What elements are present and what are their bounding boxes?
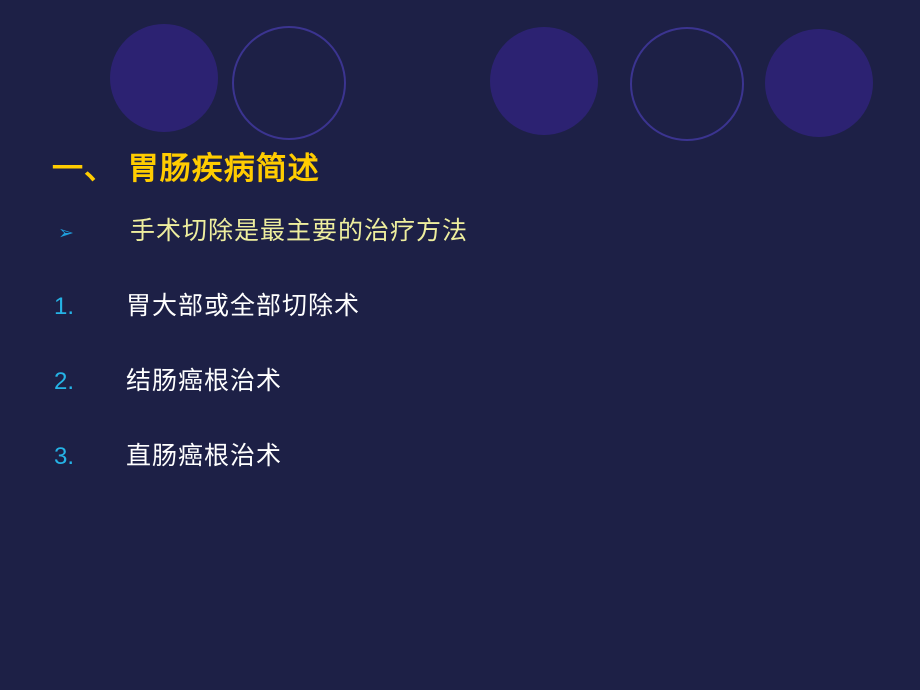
list-item: 3.直肠癌根治术 — [52, 441, 872, 516]
list-item-label: 直肠癌根治术 — [126, 441, 282, 471]
slide-body-list: ➢手术切除是最主要的治疗方法1.胃大部或全部切除术2.结肠癌根治术3.直肠癌根治… — [52, 216, 872, 516]
list-item-number: 2. — [52, 367, 126, 397]
list-item: 2.结肠癌根治术 — [52, 366, 872, 441]
list-item: ➢手术切除是最主要的治疗方法 — [52, 216, 872, 291]
decor-circle-2 — [232, 26, 346, 140]
decor-circle-3 — [490, 27, 598, 135]
list-item-label: 手术切除是最主要的治疗方法 — [130, 216, 468, 246]
slide-title: 一、 胃肠疾病简述 — [52, 143, 320, 188]
list-item-number: 3. — [52, 442, 126, 472]
arrow-bullet-icon: ➢ — [52, 219, 130, 249]
decor-circle-1 — [110, 24, 218, 132]
decor-circle-4 — [630, 27, 744, 141]
decor-circle-5 — [765, 29, 873, 137]
presentation-slide: 一、 胃肠疾病简述 ➢手术切除是最主要的治疗方法1.胃大部或全部切除术2.结肠癌… — [0, 0, 920, 690]
list-item-label: 胃大部或全部切除术 — [126, 291, 360, 321]
list-item-number: 1. — [52, 292, 126, 322]
decorative-circle-band — [0, 0, 920, 150]
list-item-label: 结肠癌根治术 — [126, 366, 282, 396]
list-item: 1.胃大部或全部切除术 — [52, 291, 872, 366]
